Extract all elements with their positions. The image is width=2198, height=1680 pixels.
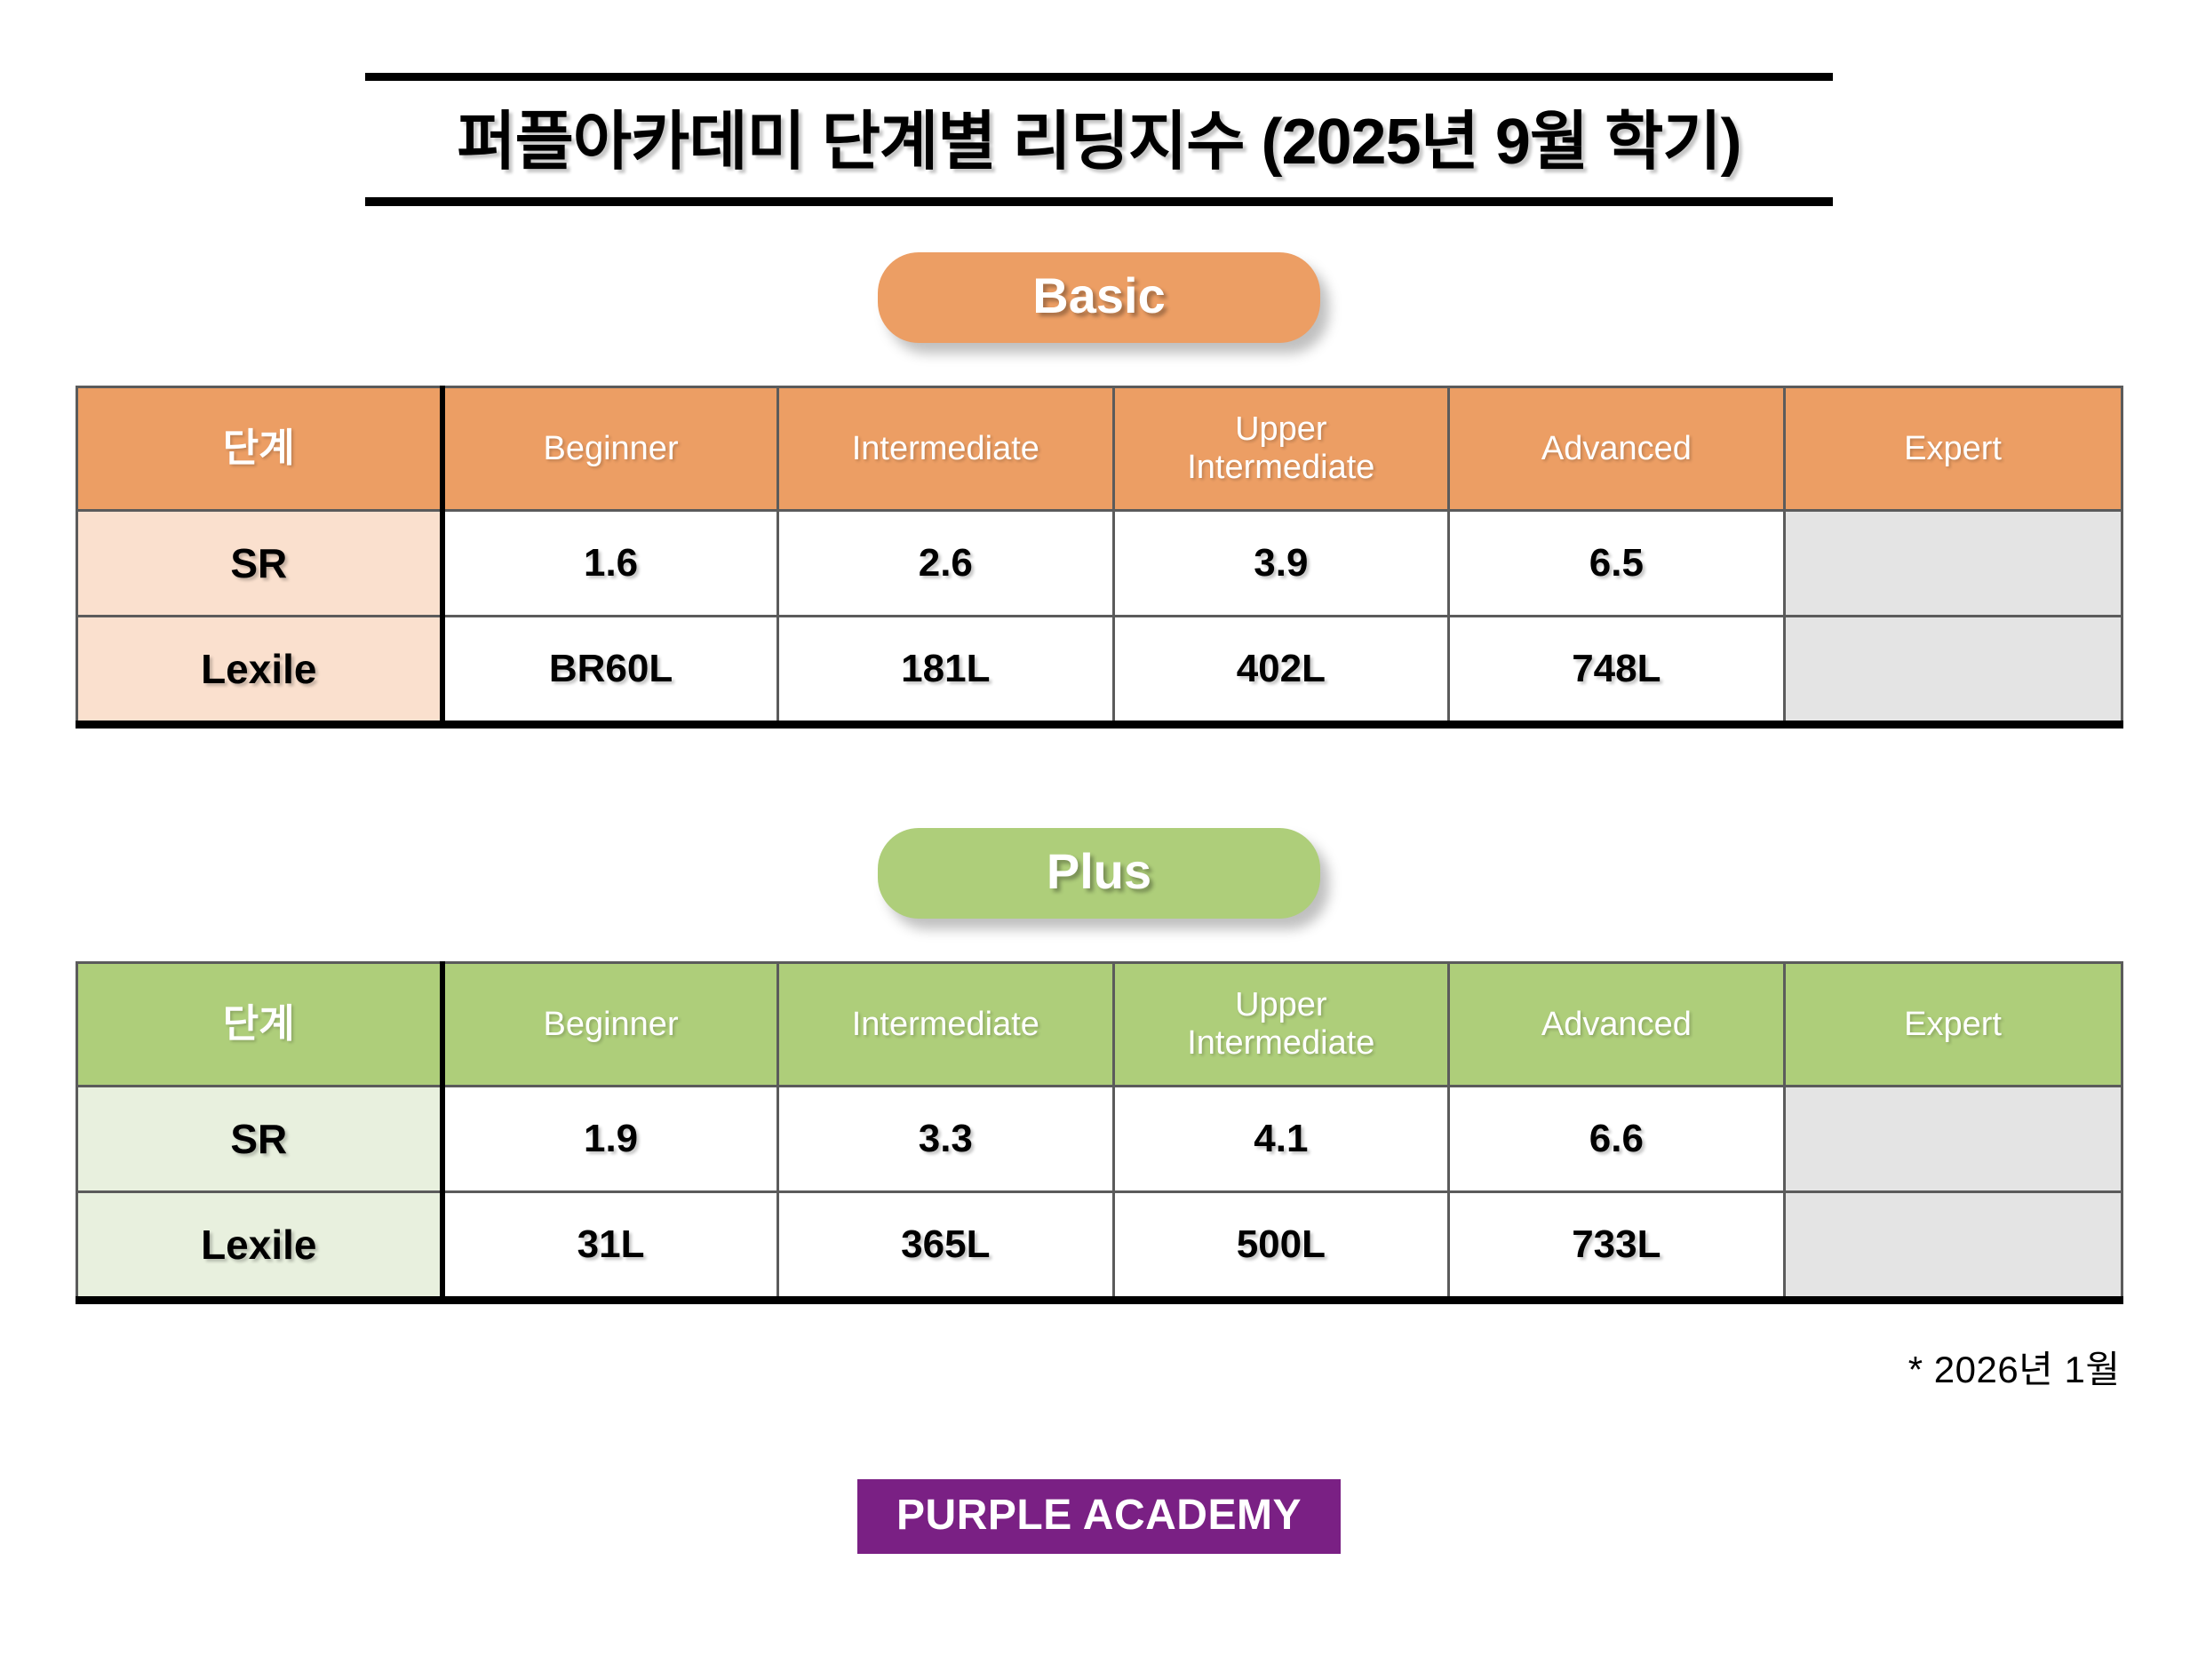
row-label-lexile: Lexile [76, 617, 442, 725]
cell-lexile-advanced: 748L [1449, 617, 1785, 725]
footnote: * 2026년 1월 [73, 1304, 2126, 1394]
row-label-lexile: Lexile [76, 1192, 442, 1301]
col-header-upper-intermediate-line2: Intermediate [1187, 449, 1374, 486]
cell-lexile-intermediate: 181L [778, 617, 1114, 725]
purple-academy-logo: PURPLE ACADEMY [857, 1479, 1341, 1554]
cell-sr-intermediate: 2.6 [778, 511, 1114, 617]
title-block: 퍼플아카데미 단계별 리딩지수 (2025년 9월 학기) [365, 0, 1833, 206]
title-rule-top [365, 73, 1833, 81]
cell-lexile-intermediate: 365L [778, 1192, 1114, 1301]
logo-wrap: PURPLE ACADEMY [0, 1394, 2198, 1554]
cell-lexile-upper-intermediate: 500L [1113, 1192, 1449, 1301]
table-row: SR 1.6 2.6 3.9 6.5 [76, 511, 2122, 617]
cell-sr-upper-intermediate: 3.9 [1113, 511, 1449, 617]
table-row: SR 1.9 3.3 4.1 6.6 [76, 1087, 2122, 1192]
row-label-sr: SR [76, 511, 442, 617]
cell-sr-upper-intermediate: 4.1 [1113, 1087, 1449, 1192]
col-header-beginner: Beginner [442, 963, 778, 1087]
basic-table-wrap: 단계 Beginner Intermediate Upper Intermedi… [76, 386, 2123, 729]
col-header-intermediate: Intermediate [778, 387, 1114, 511]
reading-index-table-plus: 단계 Beginner Intermediate Upper Intermedi… [76, 961, 2123, 1304]
col-header-expert: Expert [1784, 387, 2122, 511]
cell-sr-beginner: 1.9 [442, 1087, 778, 1192]
cell-lexile-expert [1784, 617, 2122, 725]
cell-sr-advanced: 6.6 [1449, 1087, 1785, 1192]
cell-sr-beginner: 1.6 [442, 511, 778, 617]
table-row: Lexile BR60L 181L 402L 748L [76, 617, 2122, 725]
section-badge-plus: Plus [878, 828, 1320, 919]
table-header-row: 단계 Beginner Intermediate Upper Intermedi… [76, 387, 2122, 511]
col-header-upper-intermediate: Upper Intermediate [1113, 963, 1449, 1087]
col-header-intermediate: Intermediate [778, 963, 1114, 1087]
col-header-advanced: Advanced [1449, 963, 1785, 1087]
title-rule-bottom [365, 197, 1833, 206]
basic-badge-wrap: Basic [0, 252, 2198, 343]
col-header-beginner: Beginner [442, 387, 778, 511]
reading-index-table-basic: 단계 Beginner Intermediate Upper Intermedi… [76, 386, 2123, 729]
section-badge-basic: Basic [878, 252, 1320, 343]
table-row: Lexile 31L 365L 500L 733L [76, 1192, 2122, 1301]
col-header-advanced: Advanced [1449, 387, 1785, 511]
col-header-stage: 단계 [76, 387, 442, 511]
page-title: 퍼플아카데미 단계별 리딩지수 (2025년 9월 학기) [365, 81, 1833, 197]
col-header-upper-intermediate-line1: Upper [1235, 986, 1327, 1023]
cell-sr-advanced: 6.5 [1449, 511, 1785, 617]
cell-lexile-expert [1784, 1192, 2122, 1301]
col-header-expert: Expert [1784, 963, 2122, 1087]
cell-lexile-beginner: 31L [442, 1192, 778, 1301]
col-header-upper-intermediate: Upper Intermediate [1113, 387, 1449, 511]
col-header-upper-intermediate-line1: Upper [1235, 410, 1327, 448]
col-header-stage: 단계 [76, 963, 442, 1087]
cell-lexile-advanced: 733L [1449, 1192, 1785, 1301]
cell-sr-expert [1784, 511, 2122, 617]
plus-table-wrap: 단계 Beginner Intermediate Upper Intermedi… [76, 961, 2123, 1304]
cell-lexile-upper-intermediate: 402L [1113, 617, 1449, 725]
row-label-sr: SR [76, 1087, 442, 1192]
cell-sr-expert [1784, 1087, 2122, 1192]
plus-badge-wrap: Plus [0, 828, 2198, 919]
table-header-row: 단계 Beginner Intermediate Upper Intermedi… [76, 963, 2122, 1087]
cell-lexile-beginner: BR60L [442, 617, 778, 725]
col-header-upper-intermediate-line2: Intermediate [1187, 1024, 1374, 1062]
cell-sr-intermediate: 3.3 [778, 1087, 1114, 1192]
